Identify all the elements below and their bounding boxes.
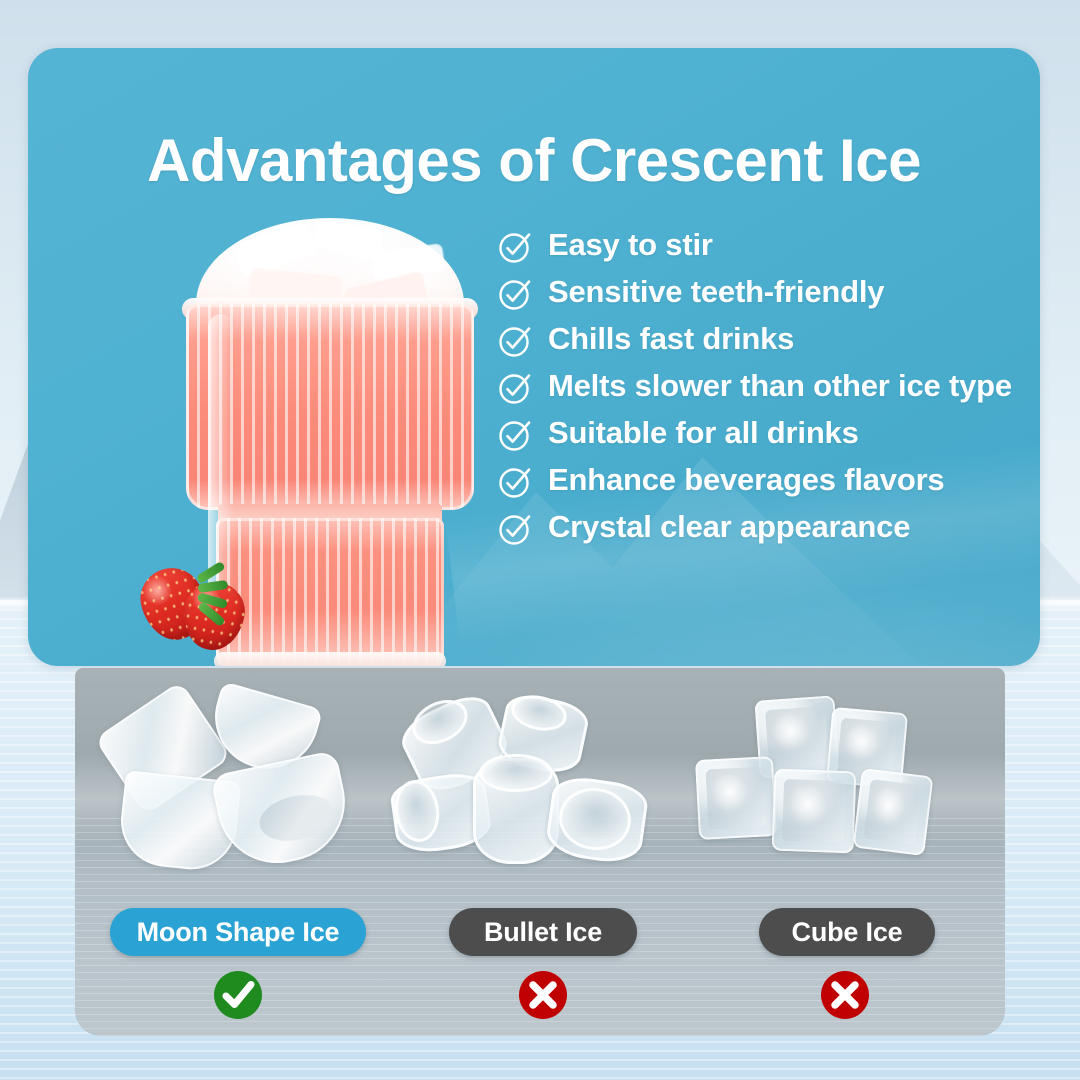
list-item: Crystal clear appearance xyxy=(498,508,1040,546)
list-item: Sensitive teeth-friendly xyxy=(498,273,1040,311)
label-pill-bullet-ice[interactable]: Bullet Ice xyxy=(449,908,637,956)
glass-shadow xyxy=(212,664,450,666)
list-item-label: Crystal clear appearance xyxy=(548,508,910,546)
check-circle-icon xyxy=(498,230,532,264)
list-item-label: Enhance beverages flavors xyxy=(548,461,944,499)
green-check-icon xyxy=(213,970,263,1020)
list-item: Suitable for all drinks xyxy=(498,414,1040,452)
cube-ice-frost xyxy=(765,706,829,768)
check-circle-icon xyxy=(498,277,532,311)
strawberry-leaves xyxy=(198,574,258,614)
list-item: Chills fast drinks xyxy=(498,320,1040,358)
moon-shape-ice-image xyxy=(83,684,393,894)
list-item: Enhance beverages flavors xyxy=(498,461,1040,499)
bullet-ice-opening xyxy=(479,754,553,792)
list-item-label: Chills fast drinks xyxy=(548,320,794,358)
list-item: Easy to stir xyxy=(498,226,1040,264)
advantages-panel: Advantages of Crescent Ice xyxy=(28,48,1040,666)
red-cross-icon xyxy=(518,970,568,1020)
infographic-root: Advantages of Crescent Ice xyxy=(0,0,1080,1080)
red-cross-icon xyxy=(820,970,870,1020)
check-circle-icon xyxy=(498,465,532,499)
list-item-label: Suitable for all drinks xyxy=(548,414,859,452)
strawberry-garnish xyxy=(140,544,270,664)
advantages-list: Easy to stir Sensitive teeth-friendly Ch… xyxy=(498,226,1040,555)
check-circle-icon xyxy=(498,512,532,546)
label-pill-cube-ice[interactable]: Cube Ice xyxy=(759,908,935,956)
check-circle-icon xyxy=(498,324,532,358)
cube-ice-piece xyxy=(852,768,933,856)
cube-ice-frost xyxy=(864,779,923,845)
comparison-column-bullet-ice: Bullet Ice xyxy=(385,668,695,1036)
hero-drink-image xyxy=(140,208,510,666)
list-item: Melts slower than other ice type xyxy=(498,367,1040,405)
comparison-column-moon-shape: Moon Shape Ice xyxy=(83,668,393,1036)
cube-ice-frost xyxy=(705,767,766,830)
cube-ice-piece xyxy=(772,769,857,854)
list-item-label: Sensitive teeth-friendly xyxy=(548,273,884,311)
check-circle-icon xyxy=(498,418,532,452)
list-item-label: Melts slower than other ice type xyxy=(548,367,1012,405)
ice-comparison-panel: Moon Shape Ice Bulle xyxy=(75,668,1005,1036)
cube-ice-image xyxy=(687,684,997,894)
label-pill-moon-shape-ice[interactable]: Moon Shape Ice xyxy=(110,908,366,956)
comparison-column-cube-ice: Cube Ice xyxy=(687,668,997,1036)
bullet-ice-image xyxy=(385,684,695,894)
list-item-label: Easy to stir xyxy=(548,226,713,264)
check-circle-icon xyxy=(498,371,532,405)
page-title: Advantages of Crescent Ice xyxy=(28,126,1040,195)
cube-ice-frost xyxy=(782,779,846,843)
cube-ice-piece xyxy=(695,756,777,840)
